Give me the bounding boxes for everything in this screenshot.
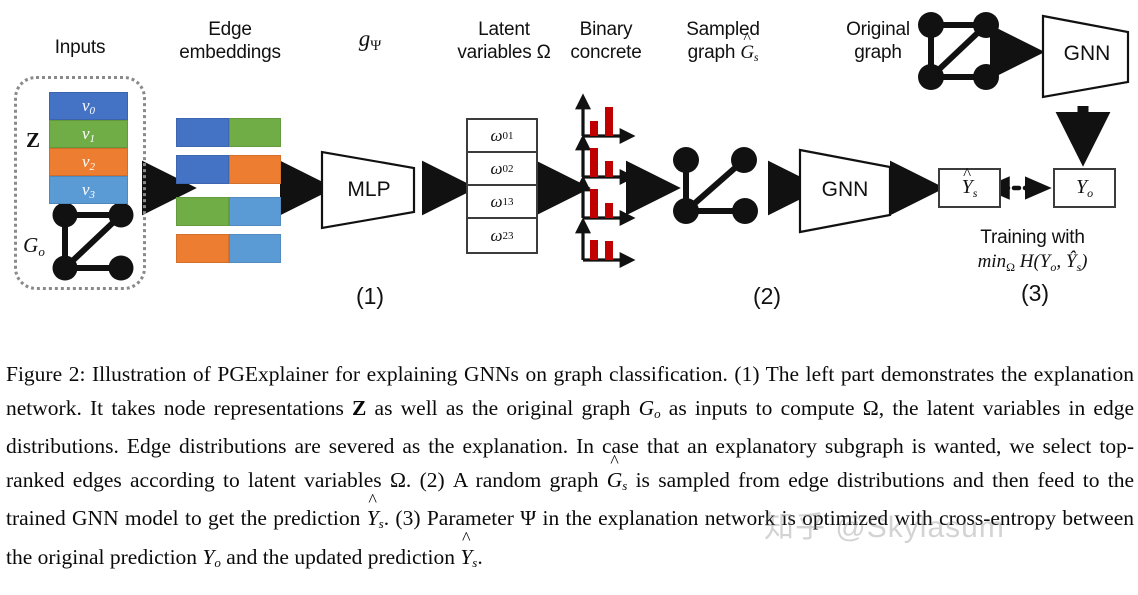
header-g-psi: gΨ xyxy=(330,26,410,55)
omega-row-13: ω13 xyxy=(468,186,536,219)
edge-embedding-1-left xyxy=(176,155,229,184)
header-sampled-word: graph xyxy=(688,42,736,63)
edge-embedding-row-1 xyxy=(176,155,281,184)
g-psi-subscript: Ψ xyxy=(370,38,381,54)
z-row-v0: v0 xyxy=(49,92,128,120)
header-edge-line1: Edge xyxy=(160,18,300,41)
z-row-v1: v1 xyxy=(49,120,128,148)
edge-embedding-row-2 xyxy=(176,197,281,226)
caption-seg-2: as well as the original graph xyxy=(366,396,638,420)
caption-gs: ^Gs xyxy=(607,468,628,492)
header-sampled-line1: Sampled xyxy=(661,18,785,41)
binary-concrete-chart-1 xyxy=(583,103,626,136)
z-label: Z xyxy=(18,128,48,153)
binary-concrete-chart-4 xyxy=(583,227,626,260)
edge-embedding-0-right xyxy=(229,118,282,147)
mlp-label: MLP xyxy=(330,178,408,202)
header-edge-embeddings: Edge embeddings xyxy=(160,18,300,64)
ys-label: ^Ys xyxy=(962,176,978,201)
gnn-label-top: GNN xyxy=(1048,42,1126,66)
figure-diagram: Inputs Edge embeddings gΨ Latent variabl… xyxy=(0,0,1138,335)
hat-accent: ^ xyxy=(462,529,471,547)
header-original-line2: graph xyxy=(828,41,928,64)
figure-caption: Figure 2: Illustration of PGExplainer fo… xyxy=(6,358,1134,579)
header-original-graph: Original graph xyxy=(828,18,928,64)
g-psi-symbol: g xyxy=(359,26,371,51)
prediction-ys-box: ^Ys xyxy=(938,168,1001,208)
z-row-v0-label: v0 xyxy=(82,96,95,117)
latent-variables-table: ω01 ω02 ω13 ω23 xyxy=(466,118,538,254)
binary-concrete-chart-3 xyxy=(583,185,626,218)
header-sampled-gs: ^G xyxy=(740,41,754,64)
caption-yo: Yo xyxy=(202,545,220,569)
training-objective: minΩ H(Yo, Ŷs) xyxy=(930,251,1135,275)
hat-accent: ^ xyxy=(368,491,377,509)
caption-ys: ^Ys xyxy=(367,506,384,530)
binary-concrete-chart-2 xyxy=(583,144,626,177)
header-sampled-line2: graph ^Gs xyxy=(661,41,785,69)
caption-go: Go xyxy=(639,396,661,420)
caption-ys2: ^Ys xyxy=(460,545,477,569)
caption-z: Z xyxy=(352,396,366,420)
edge-embedding-2-left xyxy=(176,197,229,226)
hat-accent: ^ xyxy=(610,452,619,470)
edge-embedding-1-right xyxy=(229,155,282,184)
header-original-line1: Original xyxy=(828,18,928,41)
min-symbol: min xyxy=(978,251,1007,272)
go-label: Go xyxy=(16,233,52,260)
header-binary-concrete: Binary concrete xyxy=(551,18,661,64)
edge-embedding-0-left xyxy=(176,118,229,147)
yo-label: Yo xyxy=(1076,176,1093,201)
z-row-v3: v3 xyxy=(49,176,128,204)
prediction-yo-box: Yo xyxy=(1053,168,1116,208)
hat-accent: ^ xyxy=(963,165,971,182)
caption-seg-7: . xyxy=(477,545,482,569)
z-row-v3-label: v3 xyxy=(82,180,95,201)
gnn-label-bottom: GNN xyxy=(806,178,884,202)
header-inputs: Inputs xyxy=(14,36,146,59)
step-label-3: (3) xyxy=(1000,280,1070,307)
omega-row-02: ω02 xyxy=(468,153,536,186)
go-subscript: o xyxy=(38,244,45,259)
z-row-v1-label: v1 xyxy=(82,124,95,145)
go-symbol: G xyxy=(23,233,38,257)
header-binary-line2: concrete xyxy=(551,41,661,64)
edge-embedding-row-0 xyxy=(176,118,281,147)
edge-embedding-2-right xyxy=(229,197,282,226)
hat-accent: ^ xyxy=(743,31,750,47)
z-row-v2-label: v2 xyxy=(82,152,95,173)
header-binary-line1: Binary xyxy=(551,18,661,41)
edge-embedding-3-right xyxy=(229,234,282,263)
caption-seg-6: and the updated prediction xyxy=(221,545,460,569)
edge-embedding-3-left xyxy=(176,234,229,263)
training-caption-line1: Training with xyxy=(930,226,1135,249)
step-label-1: (1) xyxy=(335,283,405,310)
header-sampled-graph: Sampled graph ^Gs xyxy=(661,18,785,69)
step-label-2: (2) xyxy=(732,283,802,310)
edge-embedding-row-3 xyxy=(176,234,281,263)
z-row-v2: v2 xyxy=(49,148,128,176)
omega-row-23: ω23 xyxy=(468,219,536,252)
omega-row-01: ω01 xyxy=(468,120,536,153)
header-sampled-sub: s xyxy=(754,50,758,64)
header-edge-line2: embeddings xyxy=(160,41,300,64)
